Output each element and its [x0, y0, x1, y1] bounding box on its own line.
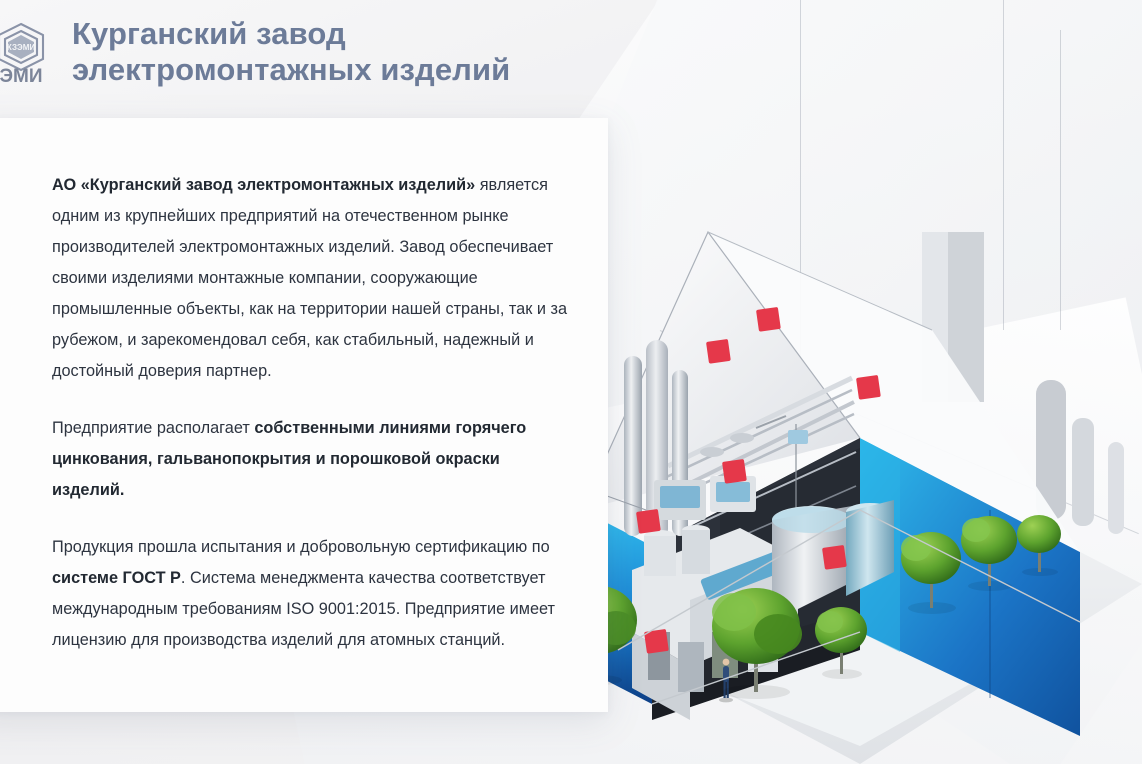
paragraph-intro-rest: является одним из крупнейших предприятий… [52, 176, 567, 380]
presentation-slide: КЗЭМИ ЭМИ Курганский завод электромонтаж… [0, 0, 1142, 764]
paragraph-intro: АО «Курганский завод электромонтажных из… [52, 170, 572, 387]
paragraph-certification: Продукция прошла испытания и добровольну… [52, 532, 572, 656]
content-card: АО «Курганский завод электромонтажных из… [0, 118, 608, 712]
paragraph-capabilities: Предприятие располагает собственными лин… [52, 413, 572, 506]
certification-prefix: Продукция прошла испытания и добровольну… [52, 538, 550, 556]
logo-wordmark: ЭМИ [0, 66, 43, 84]
page-title: Курганский завод электромонтажных издели… [72, 16, 510, 88]
slide-header: КЗЭМИ ЭМИ Курганский завод электромонтаж… [0, 0, 1142, 112]
gost-bold: системе ГОСТ Р [52, 569, 181, 587]
content-card-body: АО «Курганский завод электромонтажных из… [52, 170, 572, 656]
capabilities-prefix: Предприятие располагает [52, 419, 254, 437]
isometric-factory-cutaway-illustration [560, 180, 1142, 764]
company-name-bold: АО «Курганский завод электромонтажных из… [52, 176, 475, 194]
company-logo[interactable]: КЗЭМИ ЭМИ [0, 22, 48, 84]
svg-text:КЗЭМИ: КЗЭМИ [7, 43, 36, 52]
